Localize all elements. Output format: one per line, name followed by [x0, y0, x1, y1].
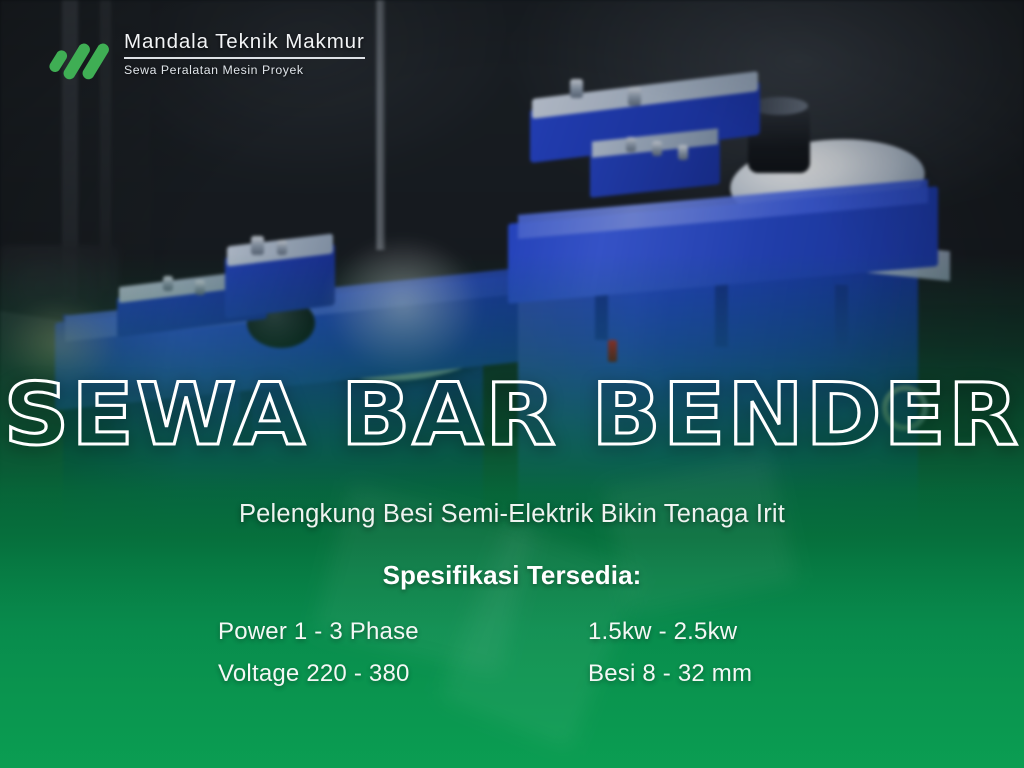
hero-headline: SEWA BAR BENDER [0, 372, 1024, 458]
spec-besi: Besi 8 - 32 mm [588, 660, 818, 688]
brand-name: Mandala Teknik Makmur [124, 31, 365, 54]
brand-tagline: Sewa Peralatan Mesin Proyek [124, 63, 365, 77]
poster-canvas: Mandala Teknik Makmur Sewa Peralatan Mes… [0, 0, 1024, 768]
poster-content: Mandala Teknik Makmur Sewa Peralatan Mes… [0, 0, 1024, 768]
spec-voltage: Voltage 220 - 380 [218, 660, 588, 688]
spec-power: Power 1 - 3 Phase [218, 618, 588, 646]
spec-heading: Spesifikasi Tersedia: [0, 560, 1024, 591]
spec-list: Power 1 - 3 Phase 1.5kw - 2.5kw Voltage … [218, 618, 818, 688]
brand-text-block: Mandala Teknik Makmur Sewa Peralatan Mes… [124, 31, 365, 77]
mandala-m-logo-icon [48, 28, 110, 80]
hero-subtitle: Pelengkung Besi Semi-Elektrik Bikin Tena… [0, 500, 1024, 529]
brand-divider [124, 57, 365, 59]
brand-lockup: Mandala Teknik Makmur Sewa Peralatan Mes… [48, 28, 365, 80]
spec-kw: 1.5kw - 2.5kw [588, 618, 818, 646]
